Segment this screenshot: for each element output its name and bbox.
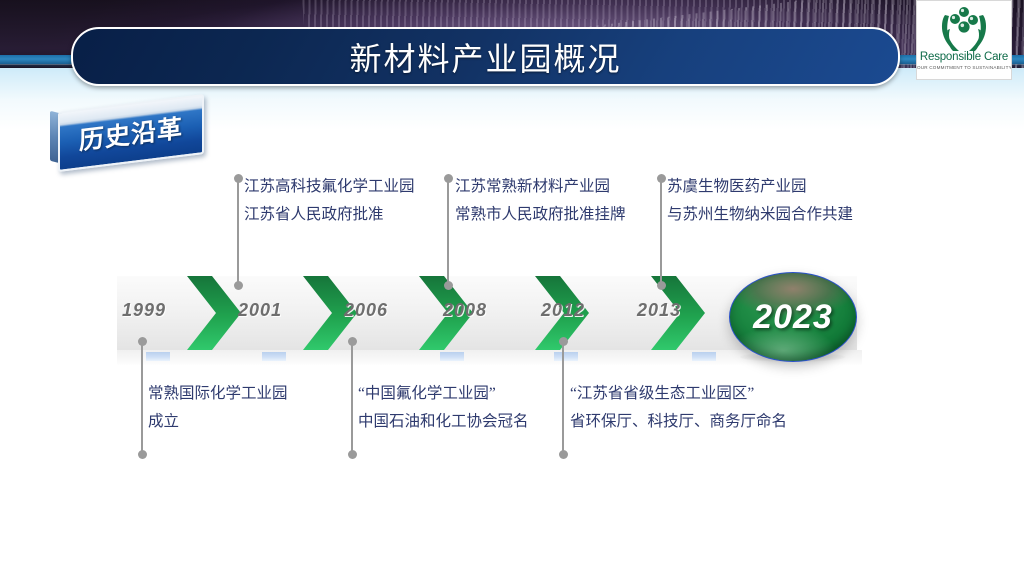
connector-dot: [559, 450, 568, 459]
connector-top-3: [660, 178, 662, 286]
connector-dot: [559, 337, 568, 346]
page-title: 新材料产业园概况: [349, 34, 621, 80]
hands-holding-molecules-icon: [917, 3, 1011, 53]
logo-name: Responsible Care: [917, 51, 1011, 63]
timeline-year-2023: 2023: [753, 298, 833, 337]
connector-dot: [138, 450, 147, 459]
connector-dot: [657, 174, 666, 183]
annotation-top-3: 苏虞生物医药产业园 与苏州生物纳米园合作共建: [667, 173, 853, 229]
annotation-top-2: 江苏常熟新材料产业园 常熟市人民政府批准挂牌: [455, 173, 626, 229]
annotation-line-2: 与苏州生物纳米园合作共建: [667, 201, 853, 229]
timeline-year-2008: 2008: [443, 300, 487, 321]
connector-bottom-1: [141, 341, 143, 455]
annotation-line-2: 省环保厅、科技厅、商务厅命名: [570, 408, 787, 436]
badge-label: 历史沿革: [79, 109, 183, 158]
timeline-year-2013: 2013: [637, 300, 681, 321]
annotation-line-2: 中国石油和化工协会冠名: [358, 408, 529, 436]
connector-dot: [138, 337, 147, 346]
timeline-year-2001: 2001: [238, 300, 282, 321]
connector-dot: [657, 281, 666, 290]
connector-dot: [348, 450, 357, 459]
page-title-bar: 新材料产业园概况: [71, 27, 900, 86]
timeline-tick: [146, 352, 170, 361]
connector-bottom-2: [351, 341, 353, 455]
history-badge: 历史沿革: [50, 103, 202, 165]
annotation-line-2: 江苏省人民政府批准: [244, 201, 415, 229]
connector-dot: [234, 281, 243, 290]
timeline-tick: [554, 352, 578, 361]
timeline-year-1999: 1999: [122, 300, 166, 321]
timeline-tick: [440, 352, 464, 361]
annotation-line-1: “江苏省省级生态工业园区”: [570, 385, 754, 402]
connector-dot: [348, 337, 357, 346]
connector-dot: [234, 174, 243, 183]
badge-face: 历史沿革: [58, 94, 204, 172]
annotation-line-1: 江苏常熟新材料产业园: [455, 178, 610, 195]
annotation-line-1: “中国氟化学工业园”: [358, 385, 496, 402]
annotation-bottom-3: “江苏省省级生态工业园区” 省环保厅、科技厅、商务厅命名: [570, 380, 787, 436]
annotation-line-2: 成立: [148, 408, 288, 436]
connector-bottom-3: [562, 341, 564, 455]
timeline-tick: [692, 352, 716, 361]
annotation-line-1: 江苏高科技氟化学工业园: [244, 178, 415, 195]
connector-top-2: [447, 178, 449, 286]
annotation-top-1: 江苏高科技氟化学工业园 江苏省人民政府批准: [244, 173, 415, 229]
connector-dot: [444, 174, 453, 183]
timeline-year-2012: 2012: [541, 300, 585, 321]
responsible-care-logo: Responsible Care OUR COMMITMENT TO SUSTA…: [916, 0, 1012, 80]
annotation-line-1: 常熟国际化学工业园: [148, 385, 288, 402]
slide-root: 新材料产业园概况 Responsible Care OUR COMMITMENT…: [0, 0, 1024, 576]
connector-top-1: [237, 178, 239, 286]
connector-dot: [444, 281, 453, 290]
annotation-line-2: 常熟市人民政府批准挂牌: [455, 201, 626, 229]
timeline-current-year-sphere: 2023: [729, 272, 857, 362]
logo-tagline: OUR COMMITMENT TO SUSTAINABILITY: [917, 65, 1011, 70]
annotation-line-1: 苏虞生物医药产业园: [667, 178, 807, 195]
timeline-tick: [262, 352, 286, 361]
annotation-bottom-1: 常熟国际化学工业园 成立: [148, 380, 288, 436]
timeline-year-2006: 2006: [344, 300, 388, 321]
annotation-bottom-2: “中国氟化学工业园” 中国石油和化工协会冠名: [358, 380, 529, 436]
